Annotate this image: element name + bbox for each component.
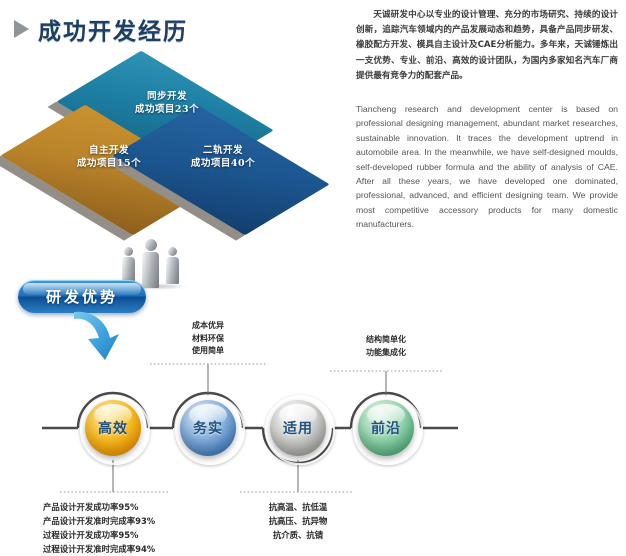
page-title-text: 成功开发经历 (38, 12, 188, 46)
caption-efficient: 产品设计开发成功率95% 产品设计开发准时完成率93% 过程设计开发成功率95%… (43, 500, 223, 556)
caption-efficient-line1: 产品设计开发成功率95% (43, 500, 223, 514)
caption-structure-line1: 结构简单化 (331, 334, 441, 347)
block-dualtrack-line2: 成功项目40个 (174, 157, 272, 170)
caption-structure-line2: 功能集成化 (331, 347, 441, 360)
caption-resistance: 抗高温、抗低温 抗高压、抗异物 抗介质、抗锖 (238, 500, 358, 542)
block-dualtrack-line1: 二轨开发 (174, 144, 272, 157)
block-sync-line1: 同步开发 (118, 90, 216, 103)
paragraph-english: Tiancheng research and development cente… (356, 102, 618, 232)
advantages-chain-diagram: 高效 务实 适用 前沿 成本优异 材料环保 使用简单 (0, 302, 626, 542)
caption-resistance-line3: 抗介质、抗锖 (238, 528, 358, 542)
block-independent-line2: 成功项目15个 (60, 157, 158, 170)
person-right-head (168, 247, 177, 256)
node-pragmatic-label: 务实 (180, 400, 236, 456)
triangle-right-icon (14, 20, 29, 38)
block-independent-line1: 自主开发 (60, 144, 158, 157)
slide-page: 成功开发经历 同步开发 成功项目23个 自主开发 成功项目15个 (0, 0, 626, 541)
paragraph-chinese: 天诚研发中心以专业的设计管理、充分的市场研究、持续的设计创新，追踪汽车领域内的产… (356, 8, 618, 84)
bottom-section: 研发优势 (0, 262, 626, 541)
caption-resistance-line1: 抗高温、抗低温 (238, 500, 358, 514)
person-left-head (124, 247, 133, 256)
node-pragmatic[interactable]: 务实 (180, 400, 236, 456)
node-efficient[interactable]: 高效 (85, 400, 141, 456)
node-applicable-label: 适用 (270, 400, 326, 456)
caption-cost-line3: 使用简单 (158, 345, 258, 358)
caption-cost-line1: 成本优异 (158, 320, 258, 333)
block-independent-label: 自主开发 成功项目15个 (60, 144, 158, 170)
caption-cost-line2: 材料环保 (158, 333, 258, 346)
block-sync-label: 同步开发 成功项目23个 (118, 90, 216, 116)
page-title: 成功开发经历 (14, 12, 188, 46)
block-sync-line2: 成功项目23个 (118, 103, 216, 116)
description-text-block: 天诚研发中心以专业的设计管理、充分的市场研究、持续的设计创新，追踪汽车领域内的产… (356, 8, 618, 232)
node-advanced-label: 前沿 (358, 400, 414, 456)
caption-cost: 成本优异 材料环保 使用简单 (158, 320, 258, 358)
caption-resistance-line2: 抗高压、抗异物 (238, 514, 358, 528)
curved-down-arrow-icon (72, 308, 124, 366)
top-section: 成功开发经历 同步开发 成功项目23个 自主开发 成功项目15个 (0, 0, 626, 255)
block-dualtrack-label: 二轨开发 成功项目40个 (174, 144, 272, 170)
caption-efficient-line3: 过程设计开发成功率95% (43, 528, 223, 542)
caption-structure: 结构简单化 功能集成化 (331, 334, 441, 359)
caption-efficient-line4: 过程设计开发准时完成率94% (43, 542, 223, 556)
node-efficient-label: 高效 (85, 400, 141, 456)
person-center-head (145, 239, 157, 251)
caption-efficient-line2: 产品设计开发准时完成率93% (43, 514, 223, 528)
node-applicable[interactable]: 适用 (270, 400, 326, 456)
isometric-blocks-diagram: 同步开发 成功项目23个 自主开发 成功项目15个 二轨开发 成功项目40个 (18, 62, 318, 237)
node-advanced[interactable]: 前沿 (358, 400, 414, 456)
